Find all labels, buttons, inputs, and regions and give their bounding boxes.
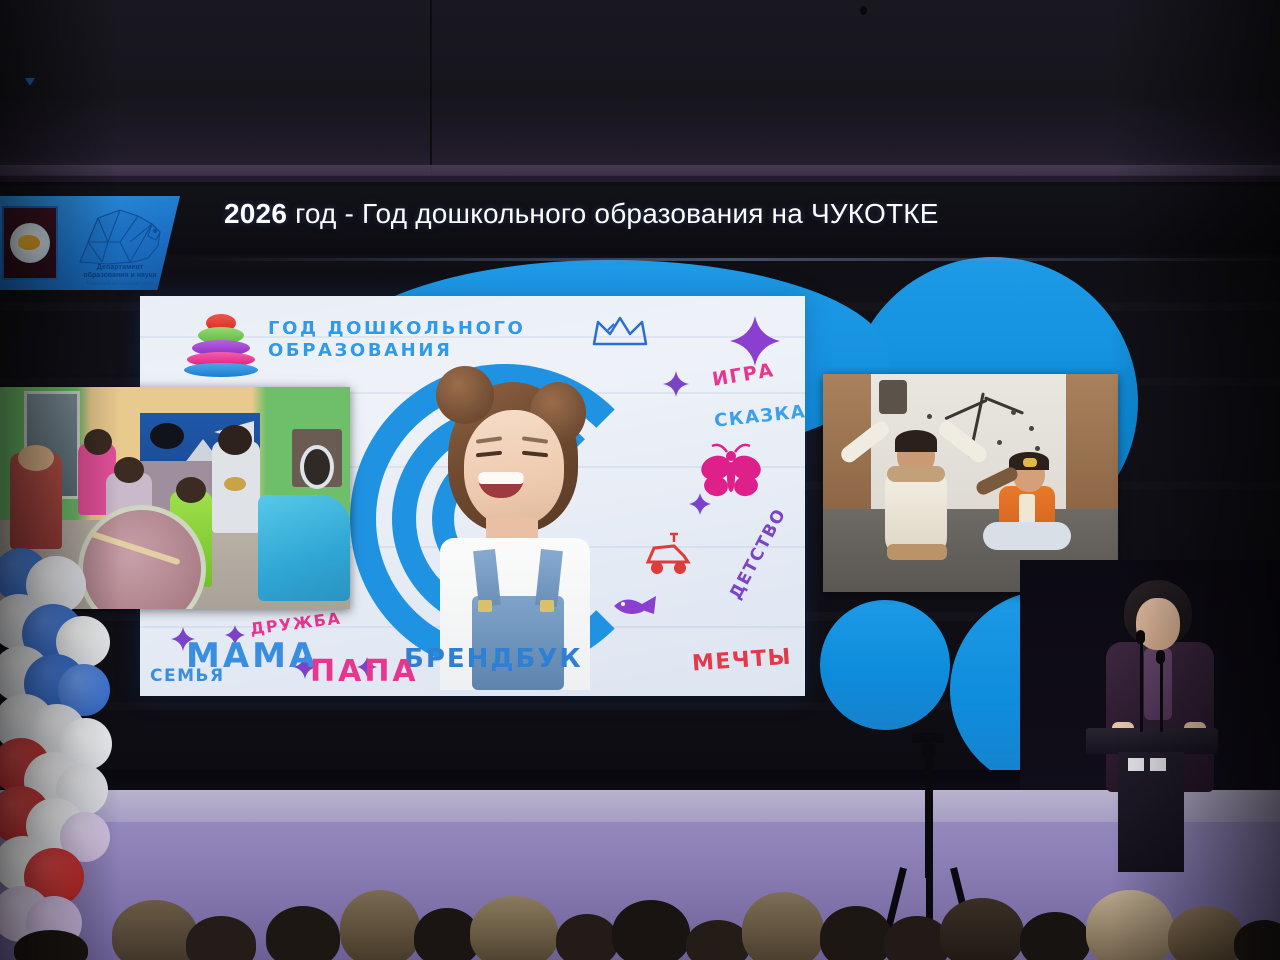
dept-name-line2: образования и науки: [66, 272, 174, 279]
lectern-plate-right: [1150, 758, 1166, 771]
doodle-word-brandbook: БРЕНДБУК: [404, 644, 583, 674]
title-rest: год - Год дошкольного образования на ЧУК…: [295, 198, 939, 229]
doodle-word-skazka: СКАЗКА: [713, 401, 805, 432]
fish-icon: [608, 590, 660, 625]
hall-ceiling: [0, 0, 1280, 175]
doodle-word-mechty: МЕЧТЫ: [691, 645, 793, 677]
doodle-word-druzhba: ДРУЖБА: [249, 608, 342, 638]
stacking-rings-toy-icon: [184, 314, 258, 374]
hero-girl-photo: [414, 360, 614, 690]
chukotka-coat-of-arms-icon: [2, 206, 58, 280]
microphone-stem-right: [1160, 660, 1163, 732]
doodle-word-igra: ИГРА: [711, 359, 776, 391]
hair-bun-left: [436, 366, 494, 424]
slide-logo-line1: ГОД ДОШКОЛЬНОГО: [268, 318, 525, 340]
conference-hall-photo: 2026 год - Год дошкольного образования н…: [0, 0, 1280, 960]
polar-bear-logo-icon: [68, 202, 168, 270]
sparkle-icon: [662, 370, 690, 403]
decor-circle-small: [820, 600, 950, 730]
title-underline: [180, 258, 1280, 261]
microphone-head-right: [1156, 650, 1165, 664]
stage-floor: [0, 790, 1280, 822]
doodle-word-papa: ПАПА: [310, 654, 419, 689]
doodle-word-detstvo: ДЕТСТВО: [726, 505, 791, 603]
dept-name-line1: Департамент: [66, 264, 174, 271]
crown-icon: [588, 312, 652, 357]
microphone-head-left: [1136, 630, 1145, 644]
lectern-plate-left: [1128, 758, 1144, 771]
title-year: 2026: [224, 198, 287, 229]
sparkle-icon: [688, 492, 712, 521]
ceiling-seam: [430, 0, 432, 175]
dept-region-line: Чукотский автономный округ: [66, 281, 174, 287]
lectern: [1086, 728, 1218, 754]
ceiling-fixture: [860, 6, 867, 15]
doodle-word-semya: СЕМЬЯ: [150, 666, 225, 686]
microphone-stem-left: [1140, 640, 1143, 732]
girl-face: [464, 410, 564, 526]
page-title: 2026 год - Год дошкольного образования н…: [224, 198, 1064, 242]
toy-car-icon: [640, 526, 700, 591]
